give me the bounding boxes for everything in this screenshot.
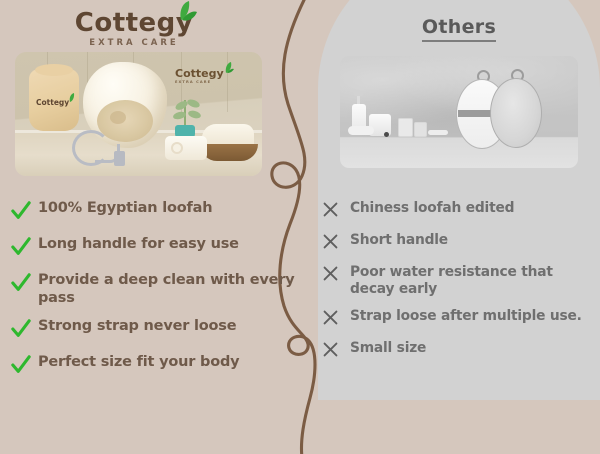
leaf-icon xyxy=(220,62,234,73)
competitor-pad-loofah xyxy=(490,78,542,148)
list-item: Chiness loofah edited xyxy=(322,200,590,222)
list-item: Strong strap never loose xyxy=(10,318,295,343)
list-item-label: Small size xyxy=(350,340,426,357)
list-item: Short handle xyxy=(322,232,590,254)
cross-icon xyxy=(322,232,346,254)
list-item: Provide a deep clean with every pass xyxy=(10,272,295,307)
cottegy-product-photo: Cottegy Cottegy EXTRA CARE xyxy=(15,52,262,176)
list-item: Perfect size fit your body xyxy=(10,354,295,379)
list-item-label: Perfect size fit your body xyxy=(38,354,239,372)
rolled-towel-front xyxy=(165,136,207,160)
list-item-label: Long handle for easy use xyxy=(38,236,239,254)
cross-icon xyxy=(322,200,346,222)
photo-watermark-logo: Cottegy EXTRA CARE xyxy=(175,68,224,85)
brand-tagline: EXTRA CARE xyxy=(75,39,194,48)
product-pouch: Cottegy xyxy=(29,69,79,131)
cross-icon xyxy=(322,308,346,330)
glass-cup xyxy=(398,118,413,137)
list-item: Strap loose after multiple use. xyxy=(322,308,590,330)
list-item-label: Chiness loofah edited xyxy=(350,200,514,217)
others-product-photo xyxy=(340,56,578,168)
list-item-label: Strap loose after multiple use. xyxy=(350,308,582,325)
cross-icon xyxy=(322,340,346,362)
comparison-infographic: Cottegy EXTRA CARE Cottegy xyxy=(0,0,600,454)
list-item: Poor water resistance that decay early xyxy=(322,264,590,298)
cross-icon xyxy=(322,264,346,286)
list-item-label: Poor water resistance that decay early xyxy=(350,264,590,298)
leaf-icon xyxy=(65,93,76,102)
product-hang-tag xyxy=(114,151,125,166)
pros-list: 100% Egyptian loofah Long handle for eas… xyxy=(10,200,295,390)
check-icon xyxy=(10,318,34,343)
check-icon xyxy=(10,200,34,225)
check-icon xyxy=(10,236,34,261)
list-item-label: Provide a deep clean with every pass xyxy=(38,272,295,307)
check-icon xyxy=(10,354,34,379)
list-item: Small size xyxy=(322,340,590,362)
woven-basket xyxy=(200,144,258,161)
list-item-label: Short handle xyxy=(350,232,448,249)
list-item-label: 100% Egyptian loofah xyxy=(38,200,212,218)
list-item: Long handle for easy use xyxy=(10,236,295,261)
leaf-icon xyxy=(167,0,197,22)
cons-list: Chiness loofah edited Short handle Poor … xyxy=(322,200,590,372)
brand-logo: Cottegy EXTRA CARE xyxy=(0,8,268,50)
list-item-label: Strong strap never loose xyxy=(38,318,236,336)
others-title: Others xyxy=(318,16,600,38)
check-icon xyxy=(10,272,34,297)
list-item: 100% Egyptian loofah xyxy=(10,200,295,225)
